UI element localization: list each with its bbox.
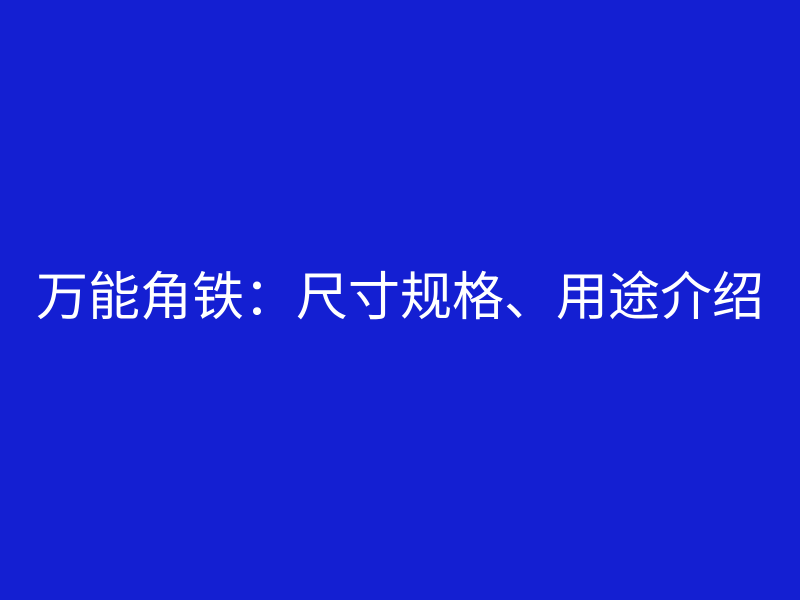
title-card: 万能角铁：尺寸规格、用途介绍: [0, 0, 800, 600]
page-title: 万能角铁：尺寸规格、用途介绍: [36, 269, 764, 329]
title-block: 万能角铁：尺寸规格、用途介绍: [0, 0, 800, 600]
